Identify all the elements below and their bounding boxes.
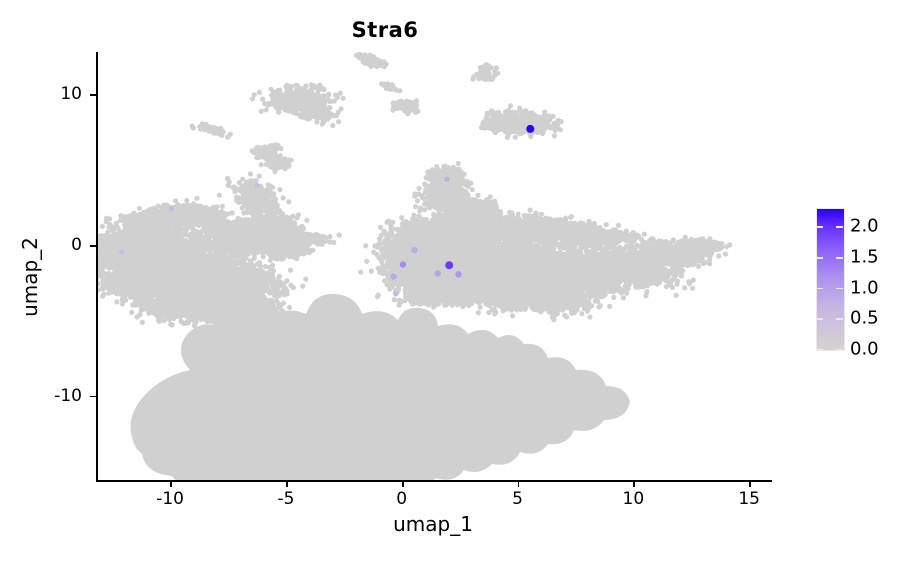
x-axis-spine [96,480,772,482]
expressing-cell-point [169,206,174,211]
expressing-cell-point [400,261,406,267]
colorbar-tick [816,226,823,228]
colorbar-tick [836,349,843,351]
expressing-cell-point [455,271,461,277]
x-tick-label: 0 [396,489,407,509]
colorbar-tick-label: 0.0 [850,339,879,360]
expressing-cell-point [444,177,449,182]
y-axis-label: umap_2 [18,187,42,367]
colorbar-tick [836,257,843,259]
x-tick-label: -10 [156,489,184,509]
x-tick-label: 15 [738,489,760,509]
colorbar-tick [836,318,843,320]
x-tick-label: 5 [512,489,523,509]
colorbar [816,208,845,351]
colorbar-tick [816,257,823,259]
x-axis-label: umap_1 [96,512,770,536]
y-axis-spine [96,52,98,482]
colorbar-tick-label: 2.0 [850,216,879,237]
colorbar-tick [836,226,843,228]
x-tick [633,481,635,487]
umap-feature-plot: Stra6 -10-5051015 100-10 umap_1 umap_2 0… [0,0,911,562]
y-tick-label: -10 [26,386,82,406]
colorbar-tick [816,318,823,320]
x-tick [286,481,288,487]
expressing-cell-point [434,270,440,276]
x-tick [402,481,404,487]
colorbar-tick-label: 0.5 [850,308,879,329]
colorbar-tick [816,288,823,290]
expressing-cell-point [119,249,124,254]
expressing-cell-point [254,183,259,188]
expressing-cell-point [411,247,417,253]
expressing-cell-point [526,125,534,133]
y-tick [90,396,96,398]
x-tick [518,481,520,487]
scatter-plot-area [96,52,770,480]
expressing-cell-point [393,291,398,296]
x-tick-label: -5 [277,489,294,509]
plot-title: Stra6 [0,18,770,42]
expressing-cell-point [445,261,453,269]
colorbar-tick [816,349,823,351]
y-tick [90,245,96,247]
expressing-cell-point [390,273,396,279]
y-tick [90,94,96,96]
y-tick-label: 10 [26,84,82,104]
colorbar-tick-label: 1.0 [850,277,879,298]
x-tick-label: 10 [623,489,645,509]
colorbar-tick-label: 1.5 [850,247,879,268]
x-tick [749,481,751,487]
x-tick [170,481,172,487]
colorbar-tick [836,288,843,290]
